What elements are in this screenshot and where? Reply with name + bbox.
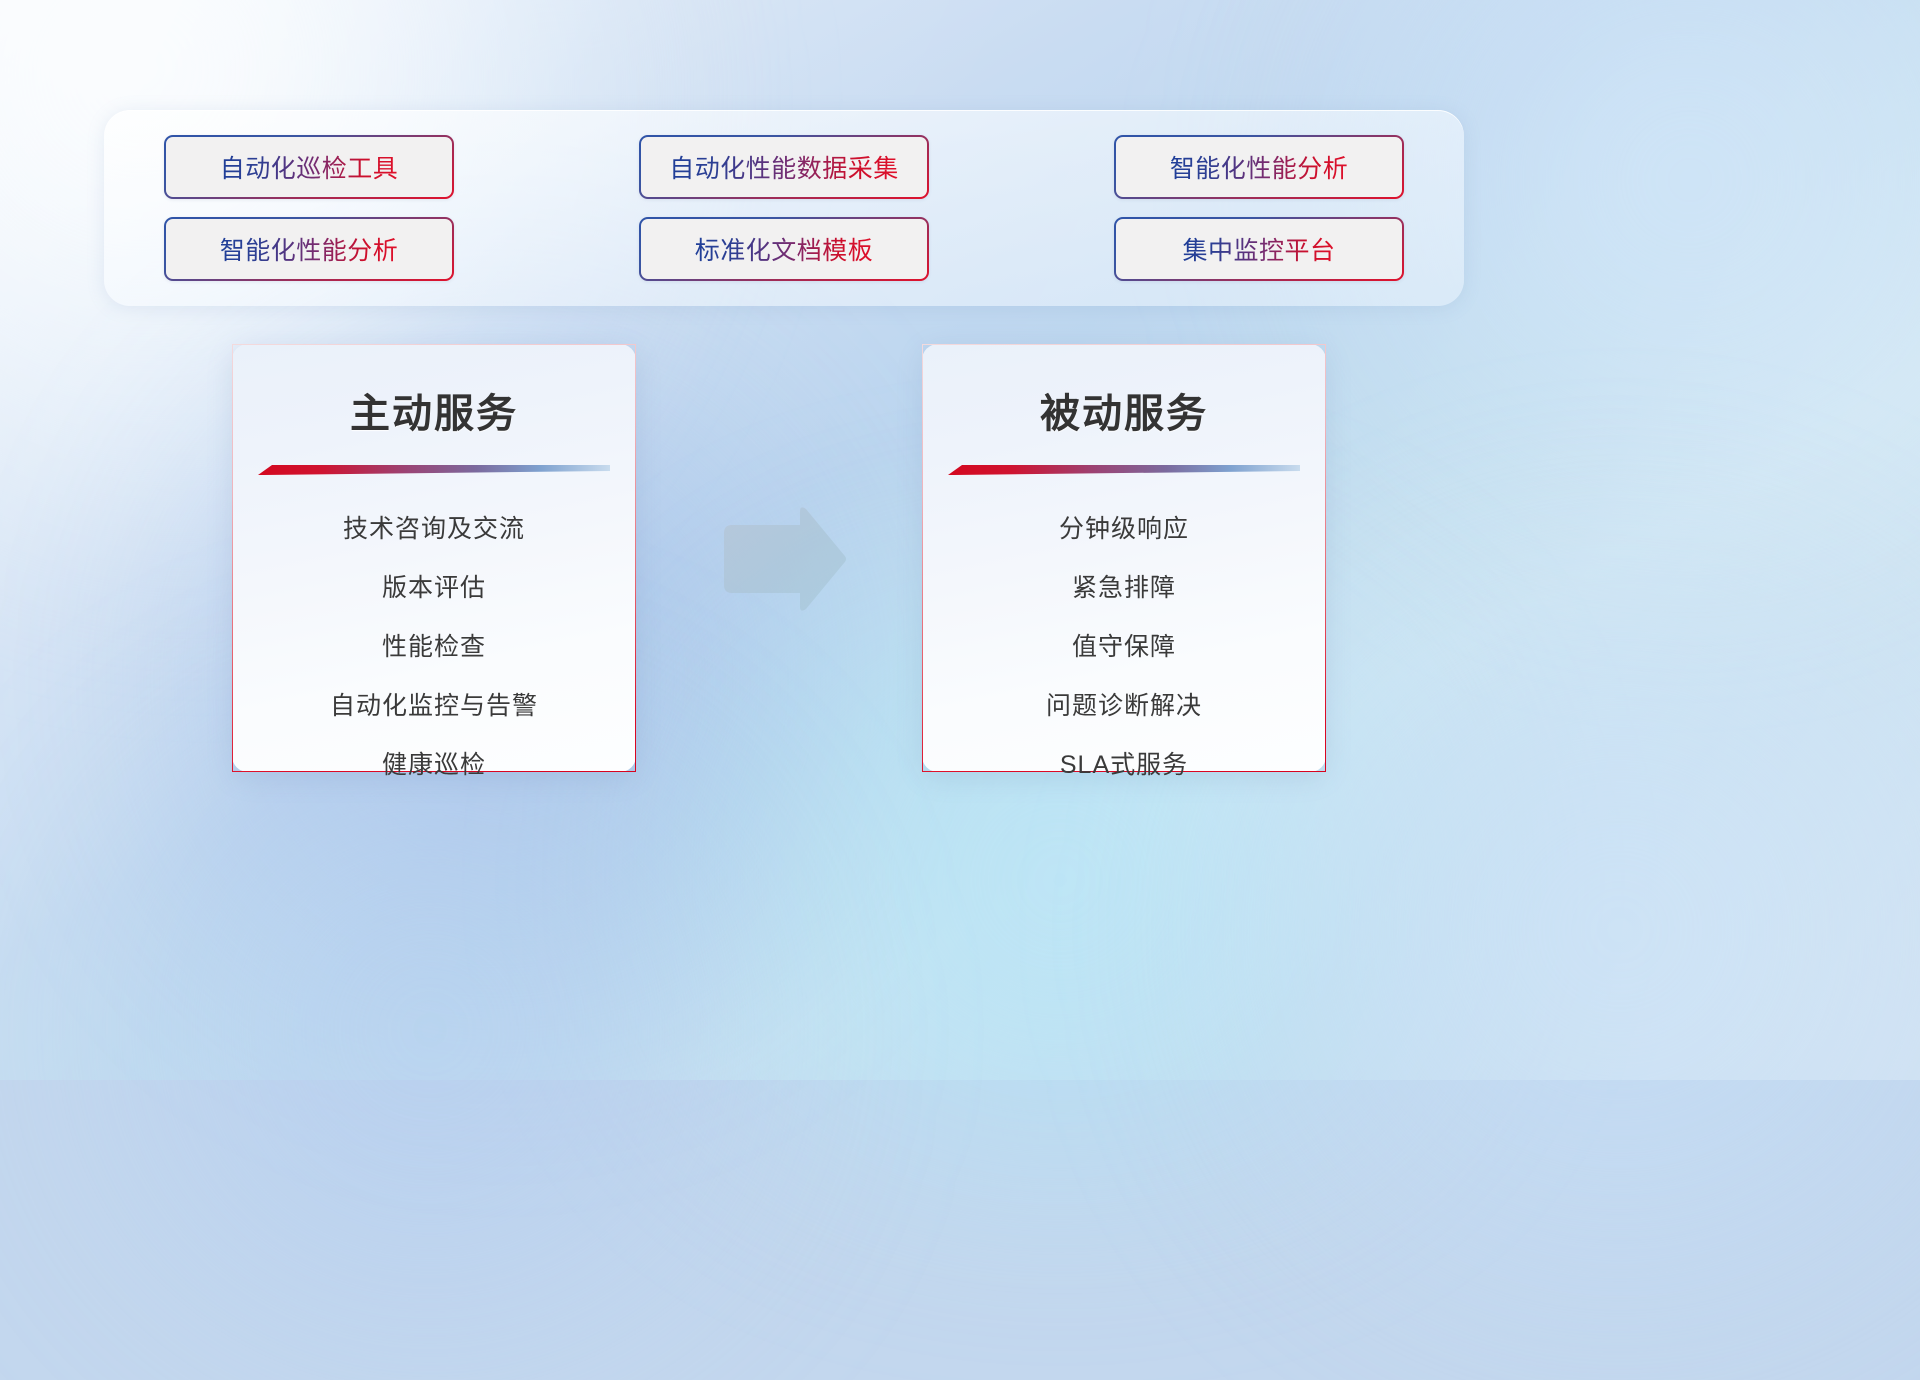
chip-standardized-document-template[interactable]: 标准化文档模板 — [639, 217, 929, 281]
list-item: 值守保障 — [1072, 618, 1176, 677]
chip-automation-inspection-tool[interactable]: 自动化巡检工具 — [164, 135, 454, 199]
chip-label: 智能化性能分析 — [1170, 149, 1349, 185]
chip-row-2: 智能化性能分析 标准化文档模板 集中监控平台 — [164, 217, 1404, 281]
service-card-reactive: 被动服务 分钟级响应 紧急排障 值守保障 问题诊断解决 SLA式服务 — [922, 344, 1326, 772]
service-card-proactive: 主动服务 技术咨询及交流 版本评估 性能检查 自动化监控与告警 健康巡检 — [232, 344, 636, 772]
list-item: 紧急排障 — [1072, 559, 1176, 618]
chip-intelligent-performance-analysis-bottom[interactable]: 智能化性能分析 — [164, 217, 454, 281]
card-list: 分钟级响应 紧急排障 值守保障 问题诊断解决 SLA式服务 — [947, 500, 1301, 795]
chip-intelligent-performance-analysis-top[interactable]: 智能化性能分析 — [1114, 135, 1404, 199]
card-title: 主动服务 — [350, 381, 518, 439]
chip-row-1: 自动化巡检工具 自动化性能数据采集 智能化性能分析 — [164, 135, 1404, 199]
list-item: 自动化监控与告警 — [330, 677, 538, 736]
arrow-right-icon — [716, 505, 848, 613]
card-divider-accent — [258, 463, 610, 476]
list-item: 问题诊断解决 — [1046, 677, 1202, 736]
list-item: 性能检查 — [382, 618, 486, 677]
card-list: 技术咨询及交流 版本评估 性能检查 自动化监控与告警 健康巡检 — [257, 500, 611, 795]
chip-label: 自动化性能数据采集 — [669, 149, 899, 185]
list-item: 版本评估 — [382, 559, 486, 618]
chip-label: 集中监控平台 — [1182, 231, 1335, 267]
chip-label: 智能化性能分析 — [220, 231, 399, 267]
chip-label: 自动化巡检工具 — [220, 149, 399, 185]
list-item: 健康巡检 — [382, 736, 486, 795]
chip-label: 标准化文档模板 — [695, 231, 874, 267]
capability-chip-panel: 自动化巡检工具 自动化性能数据采集 智能化性能分析 智能化性能分析 标准化文档模… — [104, 110, 1464, 306]
chip-automation-performance-data-collection[interactable]: 自动化性能数据采集 — [639, 135, 929, 199]
card-divider-accent — [948, 463, 1300, 476]
chip-centralized-monitoring-platform[interactable]: 集中监控平台 — [1114, 217, 1404, 281]
list-item: SLA式服务 — [1060, 736, 1188, 795]
list-item: 分钟级响应 — [1059, 500, 1189, 559]
card-title: 被动服务 — [1040, 381, 1208, 439]
list-item: 技术咨询及交流 — [343, 500, 525, 559]
